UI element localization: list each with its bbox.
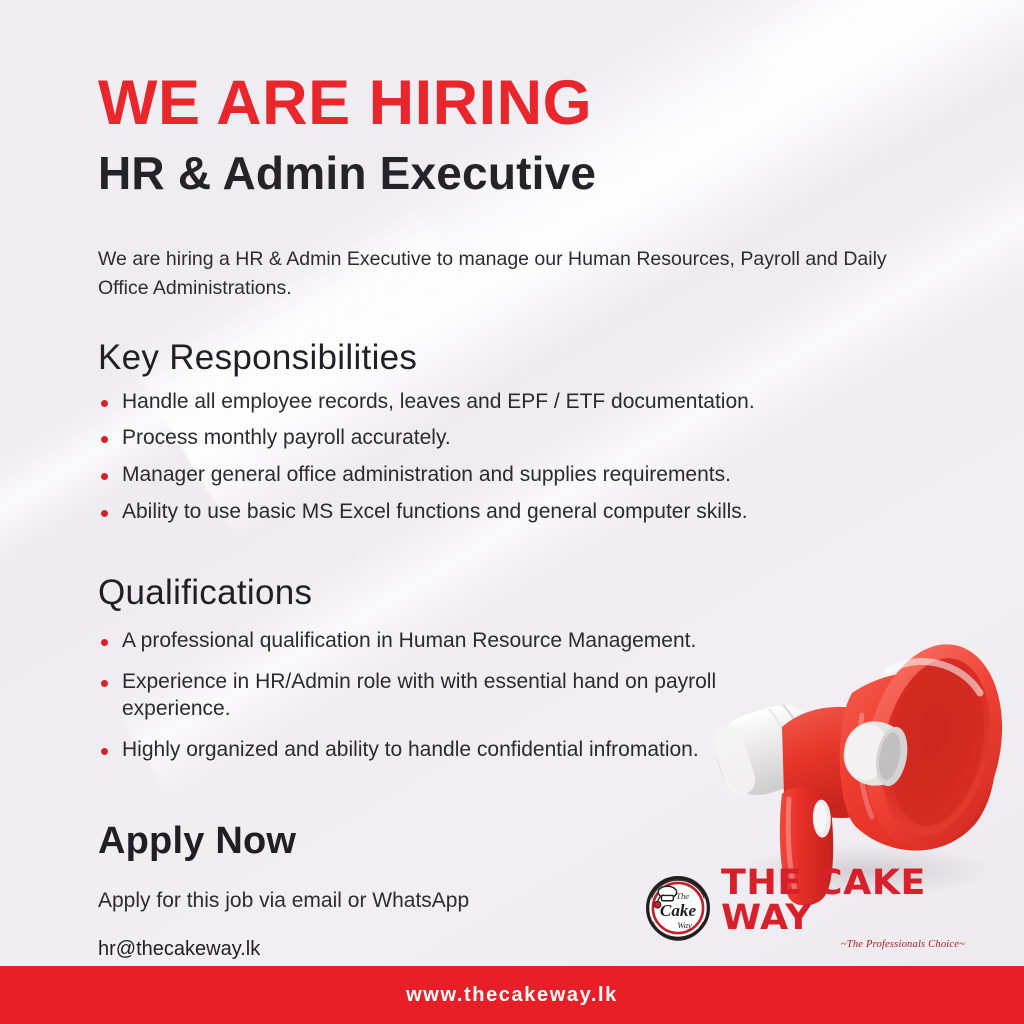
- qualifications-section: Qualifications A professional qualificat…: [98, 526, 928, 764]
- list-item: Ability to use basic MS Excel functions …: [98, 499, 928, 526]
- svg-text:Way: Way: [677, 920, 692, 930]
- qualifications-list: A professional qualification in Human Re…: [98, 628, 928, 764]
- list-item: A professional qualification in Human Re…: [98, 628, 762, 655]
- list-item: Experience in HR/Admin role with with es…: [98, 669, 762, 723]
- brand-wordmark: THE CAKE WAY: [721, 866, 975, 936]
- list-item: Manager general office administration an…: [98, 462, 928, 489]
- job-posting-poster: WE ARE HIRING HR & Admin Executive We ar…: [0, 0, 1024, 1024]
- svg-text:The: The: [676, 891, 689, 901]
- apply-now-heading: Apply Now: [98, 764, 928, 863]
- job-title: HR & Admin Executive: [98, 135, 928, 197]
- cake-way-badge-icon: The Cake Way: [645, 875, 711, 941]
- website-url[interactable]: www.thecakeway.lk: [406, 984, 618, 1007]
- footer-bar: www.thecakeway.lk: [0, 966, 1024, 1024]
- brand-logo: The Cake Way THE CAKE WAY ~The Professio…: [645, 872, 965, 944]
- svg-text:Cake: Cake: [660, 901, 697, 920]
- list-item: Process monthly payroll accurately.: [98, 425, 928, 452]
- page-title: WE ARE HIRING: [98, 0, 928, 135]
- qualifications-heading: Qualifications: [98, 572, 928, 614]
- list-item: Highly organized and ability to handle c…: [98, 737, 762, 764]
- brand-tagline: ~The Professionals Choice~: [841, 939, 965, 950]
- brand-wordmark-group: THE CAKE WAY ~The Professionals Choice~: [721, 866, 965, 950]
- poster-content: WE ARE HIRING HR & Admin Executive We ar…: [98, 0, 928, 990]
- responsibilities-section: Key Responsibilities Handle all employee…: [98, 303, 928, 527]
- list-item: Handle all employee records, leaves and …: [98, 389, 928, 416]
- responsibilities-heading: Key Responsibilities: [98, 337, 928, 379]
- intro-paragraph: We are hiring a HR & Admin Executive to …: [98, 197, 898, 302]
- responsibilities-list: Handle all employee records, leaves and …: [98, 389, 928, 527]
